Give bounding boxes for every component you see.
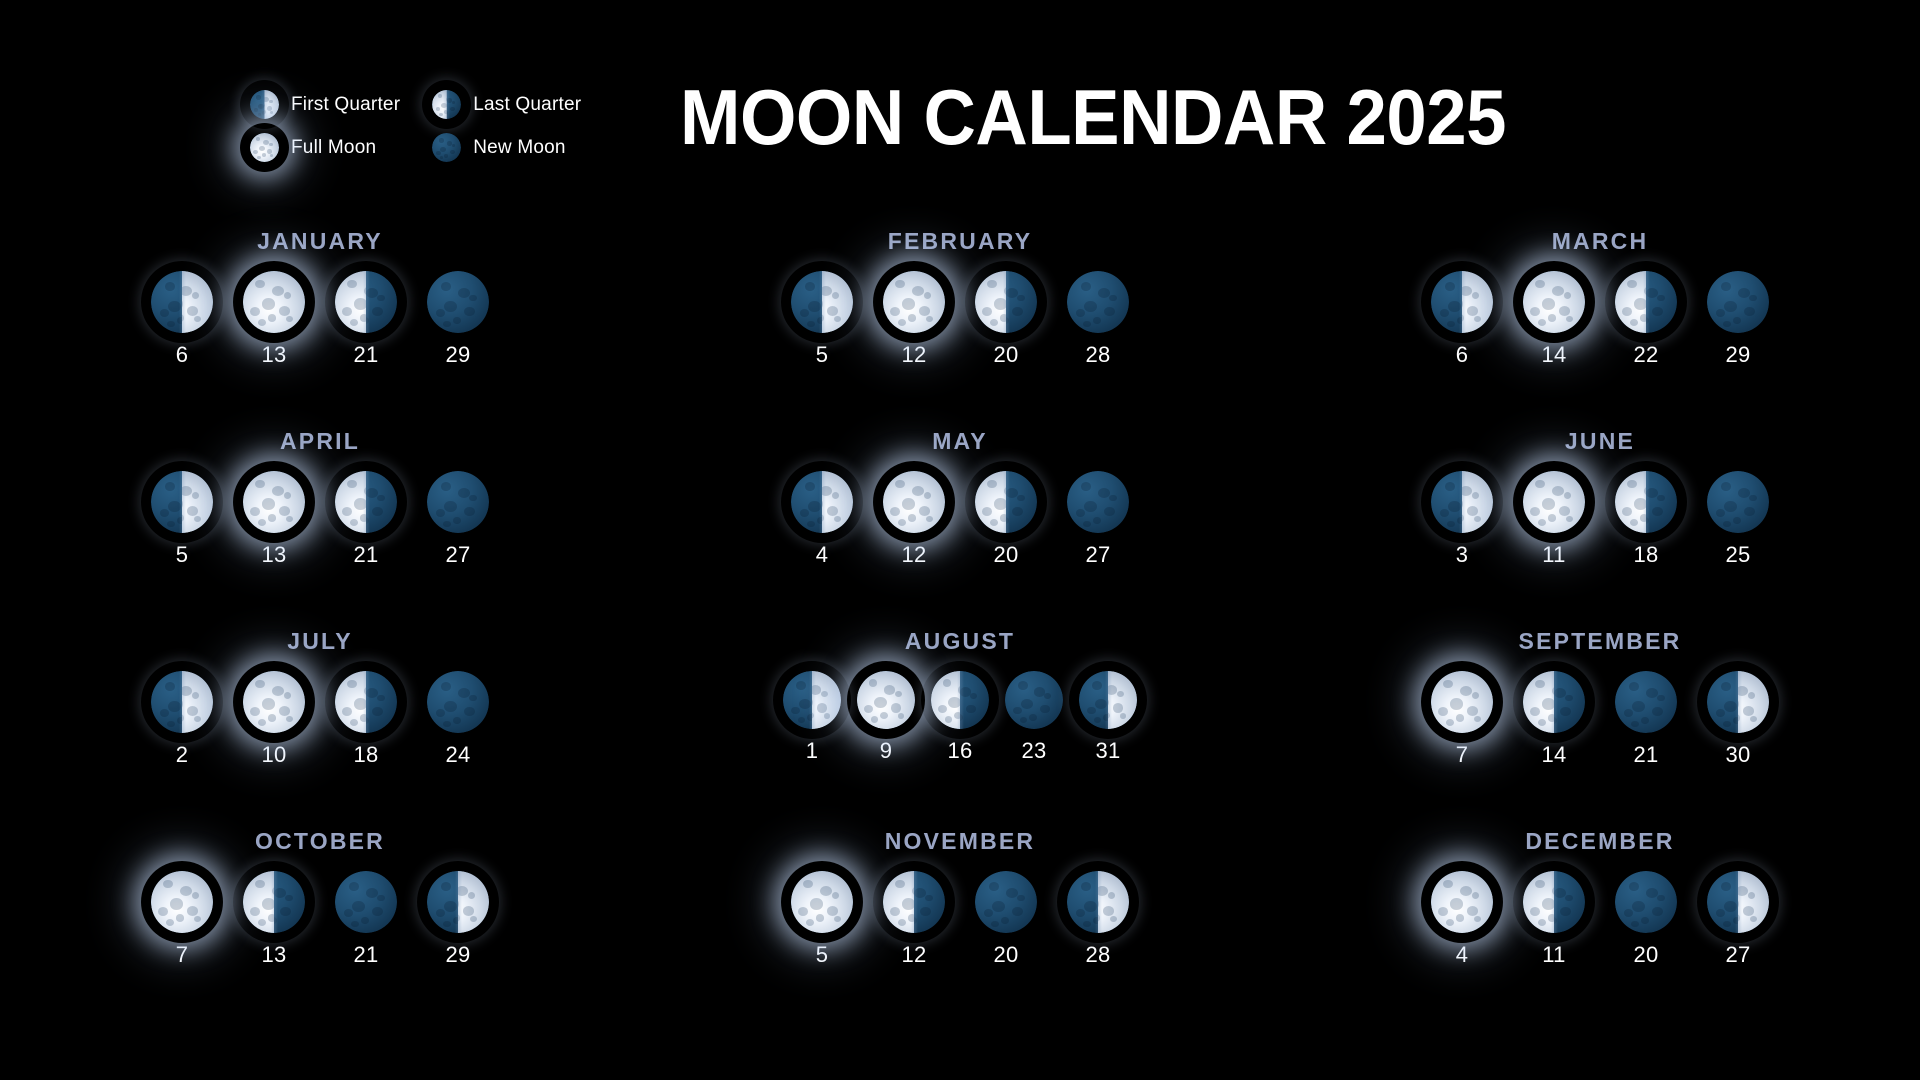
month-name: FEBRUARY [888, 228, 1033, 255]
moon-disc [335, 871, 397, 933]
first-quarter-moon-icon [1079, 671, 1137, 729]
moon-lit-side [857, 671, 915, 729]
phase-row: 7 14 [1431, 671, 1769, 768]
new-moon-moon-icon [975, 871, 1037, 933]
phase-day-label: 20 [993, 342, 1018, 368]
month-name: DECEMBER [1525, 828, 1674, 855]
moon-disc [427, 671, 489, 733]
new-moon-moon-icon [1067, 471, 1129, 533]
last-quarter-moon-icon [1523, 871, 1585, 933]
moon-craters-lit [883, 271, 945, 333]
new-moon-moon-icon [1067, 271, 1129, 333]
phase-day-label: 22 [1633, 342, 1658, 368]
month-block-april: APRIL 5 [0, 428, 640, 628]
month-name: JUNE [1565, 428, 1635, 455]
moon-disc [335, 271, 397, 333]
phase-entry[interactable]: 5 [791, 271, 853, 368]
phase-entry[interactable]: 20 [1615, 871, 1677, 968]
phase-day-label: 4 [816, 542, 829, 568]
moon-disc [243, 271, 305, 333]
phase-row: 4 11 [1431, 871, 1769, 968]
phase-entry[interactable]: 20 [975, 871, 1037, 968]
last-quarter-moon-icon [1615, 271, 1677, 333]
moon-lit-side [250, 133, 279, 162]
moon-disc [883, 471, 945, 533]
phase-entry[interactable]: 28 [1067, 871, 1129, 968]
moon-disc [335, 471, 397, 533]
new-moon-moon-icon [427, 671, 489, 733]
phase-entry[interactable]: 30 [1707, 671, 1769, 768]
last-quarter-moon-icon [432, 90, 461, 119]
phase-entry[interactable]: 10 [243, 671, 305, 768]
legend-label: First Quarter [291, 94, 400, 116]
moon-disc [1067, 871, 1129, 933]
new-moon-moon-icon [432, 133, 461, 162]
phase-entry[interactable]: 29 [1707, 271, 1769, 368]
moon-lit-side [883, 471, 945, 533]
legend-item-new-moon: New Moon [432, 133, 581, 162]
moon-shadow-side [1615, 671, 1677, 733]
first-quarter-moon-icon [1067, 871, 1129, 933]
phase-day-label: 5 [176, 542, 189, 568]
phase-entry[interactable]: 14 [1523, 271, 1585, 368]
moon-calendar-page: First Quarter Last Quarter Full [0, 0, 1920, 1080]
phase-row: 2 10 [151, 671, 489, 768]
moon-disc [1431, 271, 1493, 333]
new-moon-moon-icon [427, 471, 489, 533]
moon-disc [1079, 671, 1137, 729]
phase-row: 6 13 [151, 271, 489, 368]
phase-entry[interactable]: 27 [1707, 871, 1769, 968]
phase-day-label: 21 [353, 942, 378, 968]
moon-disc [1615, 471, 1677, 533]
phase-entry[interactable]: 13 [243, 271, 305, 368]
phase-entry[interactable]: 1 [783, 671, 841, 764]
phase-day-label: 9 [880, 738, 893, 764]
full-moon-moon-icon [857, 671, 915, 729]
full-moon-moon-icon [883, 271, 945, 333]
full-moon-moon-icon [791, 871, 853, 933]
first-quarter-moon-icon [151, 271, 213, 333]
first-quarter-moon-icon [1431, 471, 1493, 533]
moon-disc [1005, 671, 1063, 729]
moon-disc [427, 471, 489, 533]
phase-entry[interactable]: 11 [1523, 871, 1585, 968]
last-quarter-moon-icon [1615, 471, 1677, 533]
phase-day-label: 11 [1542, 942, 1565, 968]
legend-label: Last Quarter [473, 94, 581, 116]
moon-disc [883, 271, 945, 333]
phase-entry[interactable]: 4 [1431, 871, 1493, 968]
phase-entry[interactable]: 18 [335, 671, 397, 768]
moon-disc [432, 133, 461, 162]
phase-day-label: 5 [816, 342, 829, 368]
phase-day-label: 6 [1456, 342, 1469, 368]
moon-lit-side [1431, 671, 1493, 733]
phase-entry[interactable]: 11 [1523, 471, 1585, 568]
moon-shadow-side [432, 133, 461, 162]
moon-lit-side [151, 871, 213, 933]
full-moon-moon-icon [250, 133, 279, 162]
phase-entry[interactable]: 2 [151, 671, 213, 768]
moon-craters-dark [335, 871, 397, 933]
phase-day-label: 21 [353, 342, 378, 368]
moon-shadow-side [335, 871, 397, 933]
moon-craters-dark [1707, 471, 1769, 533]
moon-craters-dark [1707, 271, 1769, 333]
last-quarter-moon-icon [335, 671, 397, 733]
phase-day-label: 27 [1085, 542, 1110, 568]
moon-disc [1431, 871, 1493, 933]
month-block-march: MARCH 6 [1280, 228, 1920, 428]
month-block-october: OCTOBER 7 [0, 828, 640, 1028]
phase-entry[interactable]: 12 [883, 271, 945, 368]
phase-row: 4 12 [791, 471, 1129, 568]
phase-day-label: 12 [901, 542, 926, 568]
moon-disc [975, 871, 1037, 933]
moon-shadow-side [427, 671, 489, 733]
moon-shadow-side [1005, 671, 1063, 729]
phase-day-label: 29 [445, 342, 470, 368]
phase-day-label: 23 [1021, 738, 1046, 764]
moon-disc [931, 671, 989, 729]
phase-entry[interactable]: 24 [427, 671, 489, 768]
phase-day-label: 31 [1095, 738, 1120, 764]
phase-entry[interactable]: 12 [883, 471, 945, 568]
month-block-december: DECEMBER 4 [1280, 828, 1920, 1028]
phase-day-label: 20 [1633, 942, 1658, 968]
month-name: MARCH [1552, 228, 1649, 255]
moon-disc [783, 671, 841, 729]
phase-day-label: 21 [353, 542, 378, 568]
month-name: MAY [932, 428, 988, 455]
moon-craters-dark [427, 671, 489, 733]
moon-shadow-side [1615, 871, 1677, 933]
moon-craters-lit [857, 671, 915, 729]
phase-row: 3 11 [1431, 471, 1769, 568]
first-quarter-moon-icon [791, 271, 853, 333]
calendar-grid: JANUARY 6 [0, 228, 1920, 1028]
phase-entry[interactable]: 9 [857, 671, 915, 764]
phase-day-label: 21 [1633, 742, 1658, 768]
phase-day-label: 13 [261, 342, 286, 368]
full-moon-moon-icon [243, 671, 305, 733]
moon-shadow-side [1707, 271, 1769, 333]
moon-lit-side [791, 871, 853, 933]
phase-entry[interactable]: 28 [1067, 271, 1129, 368]
moon-disc [151, 271, 213, 333]
moon-lit-side [243, 671, 305, 733]
phase-row: 7 13 [151, 871, 489, 968]
new-moon-moon-icon [1707, 271, 1769, 333]
phase-day-label: 7 [176, 942, 189, 968]
phase-row: 5 12 [791, 271, 1129, 368]
moon-craters-lit [791, 871, 853, 933]
last-quarter-moon-icon [335, 471, 397, 533]
moon-craters-lit [151, 871, 213, 933]
moon-shadow-side [1067, 271, 1129, 333]
phase-row: 1 9 [783, 671, 1137, 764]
moon-disc [432, 90, 461, 119]
moon-disc [857, 671, 915, 729]
phase-day-label: 11 [1542, 542, 1565, 568]
moon-disc [1707, 271, 1769, 333]
new-moon-moon-icon [1615, 671, 1677, 733]
first-quarter-moon-icon [151, 671, 213, 733]
full-moon-moon-icon [151, 871, 213, 933]
moon-lit-side [1431, 871, 1493, 933]
month-name: JANUARY [257, 228, 383, 255]
moon-disc [1067, 271, 1129, 333]
moon-disc [791, 871, 853, 933]
phase-entry[interactable]: 21 [1615, 671, 1677, 768]
month-block-february: FEBRUARY 5 [640, 228, 1280, 428]
moon-lit-side [243, 471, 305, 533]
phase-day-label: 13 [261, 542, 286, 568]
phase-row: 5 12 [791, 871, 1129, 968]
moon-disc [1431, 471, 1493, 533]
moon-craters-lit [883, 471, 945, 533]
first-quarter-moon-icon [783, 671, 841, 729]
new-moon-moon-icon [1707, 471, 1769, 533]
moon-craters-dark [427, 271, 489, 333]
month-block-january: JANUARY 6 [0, 228, 640, 428]
moon-lit-side [243, 271, 305, 333]
last-quarter-moon-icon [243, 871, 305, 933]
moon-disc [883, 871, 945, 933]
moon-disc [1523, 671, 1585, 733]
last-quarter-moon-icon [1523, 671, 1585, 733]
phase-entry[interactable]: 3 [1431, 471, 1493, 568]
phase-day-label: 28 [1085, 342, 1110, 368]
month-block-november: NOVEMBER 5 [640, 828, 1280, 1028]
moon-shadow-side [427, 471, 489, 533]
phase-day-label: 1 [806, 738, 819, 764]
phase-row: 5 13 [151, 471, 489, 568]
phase-entry[interactable]: 31 [1079, 671, 1137, 764]
phase-day-label: 24 [445, 742, 470, 768]
page-header: First Quarter Last Quarter Full [0, 0, 1920, 200]
phase-day-label: 18 [1633, 542, 1658, 568]
phase-day-label: 14 [1541, 742, 1566, 768]
month-name: OCTOBER [255, 828, 385, 855]
moon-craters-dark [427, 471, 489, 533]
phase-day-label: 2 [176, 742, 189, 768]
legend-label: New Moon [473, 137, 565, 159]
moon-craters-lit [1523, 271, 1585, 333]
moon-craters-lit [243, 471, 305, 533]
phase-day-label: 27 [1725, 942, 1750, 968]
phase-day-label: 13 [261, 942, 286, 968]
month-block-july: JULY 2 [0, 628, 640, 828]
moon-disc [243, 871, 305, 933]
moon-disc [1523, 271, 1585, 333]
phase-entry[interactable]: 29 [427, 271, 489, 368]
moon-disc [427, 271, 489, 333]
page-title: MOON CALENDAR 2025 [680, 78, 1506, 156]
phase-day-label: 16 [947, 738, 972, 764]
phase-day-label: 25 [1725, 542, 1750, 568]
phase-entry[interactable]: 12 [883, 871, 945, 968]
phase-day-label: 20 [993, 942, 1018, 968]
phase-entry[interactable]: 18 [1615, 471, 1677, 568]
moon-shadow-side [427, 271, 489, 333]
phase-day-label: 30 [1725, 742, 1750, 768]
moon-disc [791, 271, 853, 333]
last-quarter-moon-icon [975, 471, 1037, 533]
phase-entry[interactable]: 21 [335, 271, 397, 368]
legend-label: Full Moon [291, 137, 376, 159]
moon-shadow-side [1067, 471, 1129, 533]
moon-shadow-side [1707, 471, 1769, 533]
phase-entry[interactable]: 21 [335, 871, 397, 968]
full-moon-moon-icon [243, 271, 305, 333]
phase-day-label: 5 [816, 942, 829, 968]
moon-craters-lit [243, 671, 305, 733]
phase-entry[interactable]: 20 [975, 471, 1037, 568]
moon-disc [1523, 871, 1585, 933]
last-quarter-moon-icon [883, 871, 945, 933]
phase-day-label: 6 [176, 342, 189, 368]
new-moon-moon-icon [1005, 671, 1063, 729]
moon-disc [243, 471, 305, 533]
phase-day-label: 14 [1541, 342, 1566, 368]
phase-entry[interactable]: 13 [243, 471, 305, 568]
phase-entry[interactable]: 4 [791, 471, 853, 568]
moon-disc [427, 871, 489, 933]
moon-disc [335, 671, 397, 733]
new-moon-moon-icon [1615, 871, 1677, 933]
phase-day-label: 4 [1456, 942, 1469, 968]
month-name: APRIL [280, 428, 360, 455]
full-moon-moon-icon [1431, 671, 1493, 733]
month-name: AUGUST [905, 628, 1015, 655]
month-name: NOVEMBER [885, 828, 1036, 855]
moon-disc [1067, 471, 1129, 533]
phase-entry[interactable]: 5 [151, 471, 213, 568]
moon-craters-lit [250, 133, 279, 162]
first-quarter-moon-icon [791, 471, 853, 533]
phase-entry[interactable]: 5 [791, 871, 853, 968]
phase-entry[interactable]: 25 [1707, 471, 1769, 568]
phase-row: 6 14 [1431, 271, 1769, 368]
phase-entry[interactable]: 6 [151, 271, 213, 368]
moon-disc [1431, 671, 1493, 733]
phase-day-label: 29 [445, 942, 470, 968]
moon-craters-lit [1523, 471, 1585, 533]
phase-day-label: 12 [901, 342, 926, 368]
last-quarter-moon-icon [931, 671, 989, 729]
moon-disc [1707, 871, 1769, 933]
phase-day-label: 10 [261, 742, 286, 768]
moon-disc [243, 671, 305, 733]
moon-craters-dark [432, 133, 461, 162]
moon-disc [1615, 271, 1677, 333]
moon-craters-dark [1067, 471, 1129, 533]
moon-lit-side [883, 271, 945, 333]
moon-disc [1615, 671, 1677, 733]
last-quarter-moon-icon [975, 271, 1037, 333]
month-block-june: JUNE 3 [1280, 428, 1920, 628]
legend-item-full-moon: Full Moon [250, 133, 400, 162]
phase-entry[interactable]: 7 [151, 871, 213, 968]
phase-day-label: 12 [901, 942, 926, 968]
month-name: SEPTEMBER [1519, 628, 1682, 655]
month-block-may: MAY 4 [640, 428, 1280, 628]
moon-lit-side [1523, 471, 1585, 533]
first-quarter-moon-icon [427, 871, 489, 933]
phase-entry[interactable]: 27 [1067, 471, 1129, 568]
phase-day-label: 20 [993, 542, 1018, 568]
new-moon-moon-icon [335, 871, 397, 933]
phase-entry[interactable]: 29 [427, 871, 489, 968]
phase-entry[interactable]: 7 [1431, 671, 1493, 768]
full-moon-moon-icon [1523, 471, 1585, 533]
phase-entry[interactable]: 23 [1005, 671, 1063, 764]
moon-shadow-side [975, 871, 1037, 933]
moon-disc [975, 271, 1037, 333]
phase-entry[interactable]: 6 [1431, 271, 1493, 368]
moon-disc [151, 671, 213, 733]
first-quarter-moon-icon [1707, 871, 1769, 933]
phase-day-label: 28 [1085, 942, 1110, 968]
phase-entry[interactable]: 22 [1615, 271, 1677, 368]
moon-craters-lit [1431, 871, 1493, 933]
first-quarter-moon-icon [151, 471, 213, 533]
phase-day-label: 7 [1456, 742, 1469, 768]
first-quarter-moon-icon [250, 90, 279, 119]
moon-craters-dark [1615, 671, 1677, 733]
moon-craters-dark [1005, 671, 1063, 729]
moon-craters-lit [243, 271, 305, 333]
phase-day-label: 3 [1456, 542, 1469, 568]
month-block-august: AUGUST 1 [640, 628, 1280, 828]
month-name: JULY [287, 628, 352, 655]
phase-entry[interactable]: 13 [243, 871, 305, 968]
full-moon-moon-icon [1523, 271, 1585, 333]
phase-entry[interactable]: 21 [335, 471, 397, 568]
moon-craters-dark [1067, 271, 1129, 333]
legend-item-last-quarter: Last Quarter [432, 90, 581, 119]
moon-disc [975, 471, 1037, 533]
moon-disc [1615, 871, 1677, 933]
moon-disc [250, 133, 279, 162]
phase-entry[interactable]: 27 [427, 471, 489, 568]
full-moon-moon-icon [883, 471, 945, 533]
phase-day-label: 27 [445, 542, 470, 568]
moon-disc [1523, 471, 1585, 533]
moon-disc [1707, 471, 1769, 533]
new-moon-moon-icon [427, 271, 489, 333]
moon-craters-dark [1615, 871, 1677, 933]
phase-entry[interactable]: 14 [1523, 671, 1585, 768]
full-moon-moon-icon [1431, 871, 1493, 933]
moon-disc [250, 90, 279, 119]
phase-entry[interactable]: 20 [975, 271, 1037, 368]
phase-day-label: 18 [353, 742, 378, 768]
moon-disc [1707, 671, 1769, 733]
moon-disc [151, 871, 213, 933]
moon-craters-lit [1431, 671, 1493, 733]
first-quarter-moon-icon [1707, 671, 1769, 733]
phase-entry[interactable]: 16 [931, 671, 989, 764]
phase-day-label: 29 [1725, 342, 1750, 368]
full-moon-moon-icon [243, 471, 305, 533]
first-quarter-moon-icon [1431, 271, 1493, 333]
legend-item-first-quarter: First Quarter [250, 90, 400, 119]
month-block-september: SEPTEMBER 7 [1280, 628, 1920, 828]
moon-disc [151, 471, 213, 533]
